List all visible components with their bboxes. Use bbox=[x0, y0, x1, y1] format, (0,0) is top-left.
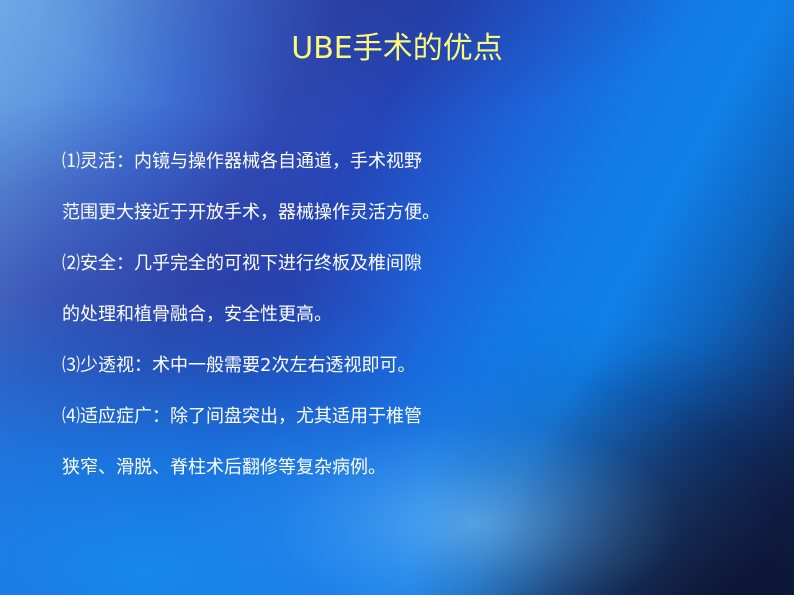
slide-content: UBE手术的优点 ⑴灵活：内镜与操作器械各自通道，手术视野 范围更大接近于开放手… bbox=[0, 0, 794, 595]
slide-body-text: ⑴灵活：内镜与操作器械各自通道，手术视野 范围更大接近于开放手术，器械操作灵活方… bbox=[62, 136, 778, 493]
body-line: ⑵安全：几乎完全的可视下进行终板及椎间隙 bbox=[62, 238, 778, 289]
body-line: ⑷适应症广：除了间盘突出，尤其适用于椎管 bbox=[62, 391, 778, 442]
body-line: 范围更大接近于开放手术，器械操作灵活方便。 bbox=[62, 187, 778, 238]
body-line: 狭窄、滑脱、脊柱术后翻修等复杂病例。 bbox=[62, 442, 778, 493]
slide-title: UBE手术的优点 bbox=[0, 34, 794, 64]
body-line: ⑴灵活：内镜与操作器械各自通道，手术视野 bbox=[62, 136, 778, 187]
body-line: 的处理和植骨融合，安全性更高。 bbox=[62, 289, 778, 340]
body-line: ⑶少透视：术中一般需要2次左右透视即可。 bbox=[62, 340, 778, 391]
presentation-slide: UBE手术的优点 ⑴灵活：内镜与操作器械各自通道，手术视野 范围更大接近于开放手… bbox=[0, 0, 794, 595]
